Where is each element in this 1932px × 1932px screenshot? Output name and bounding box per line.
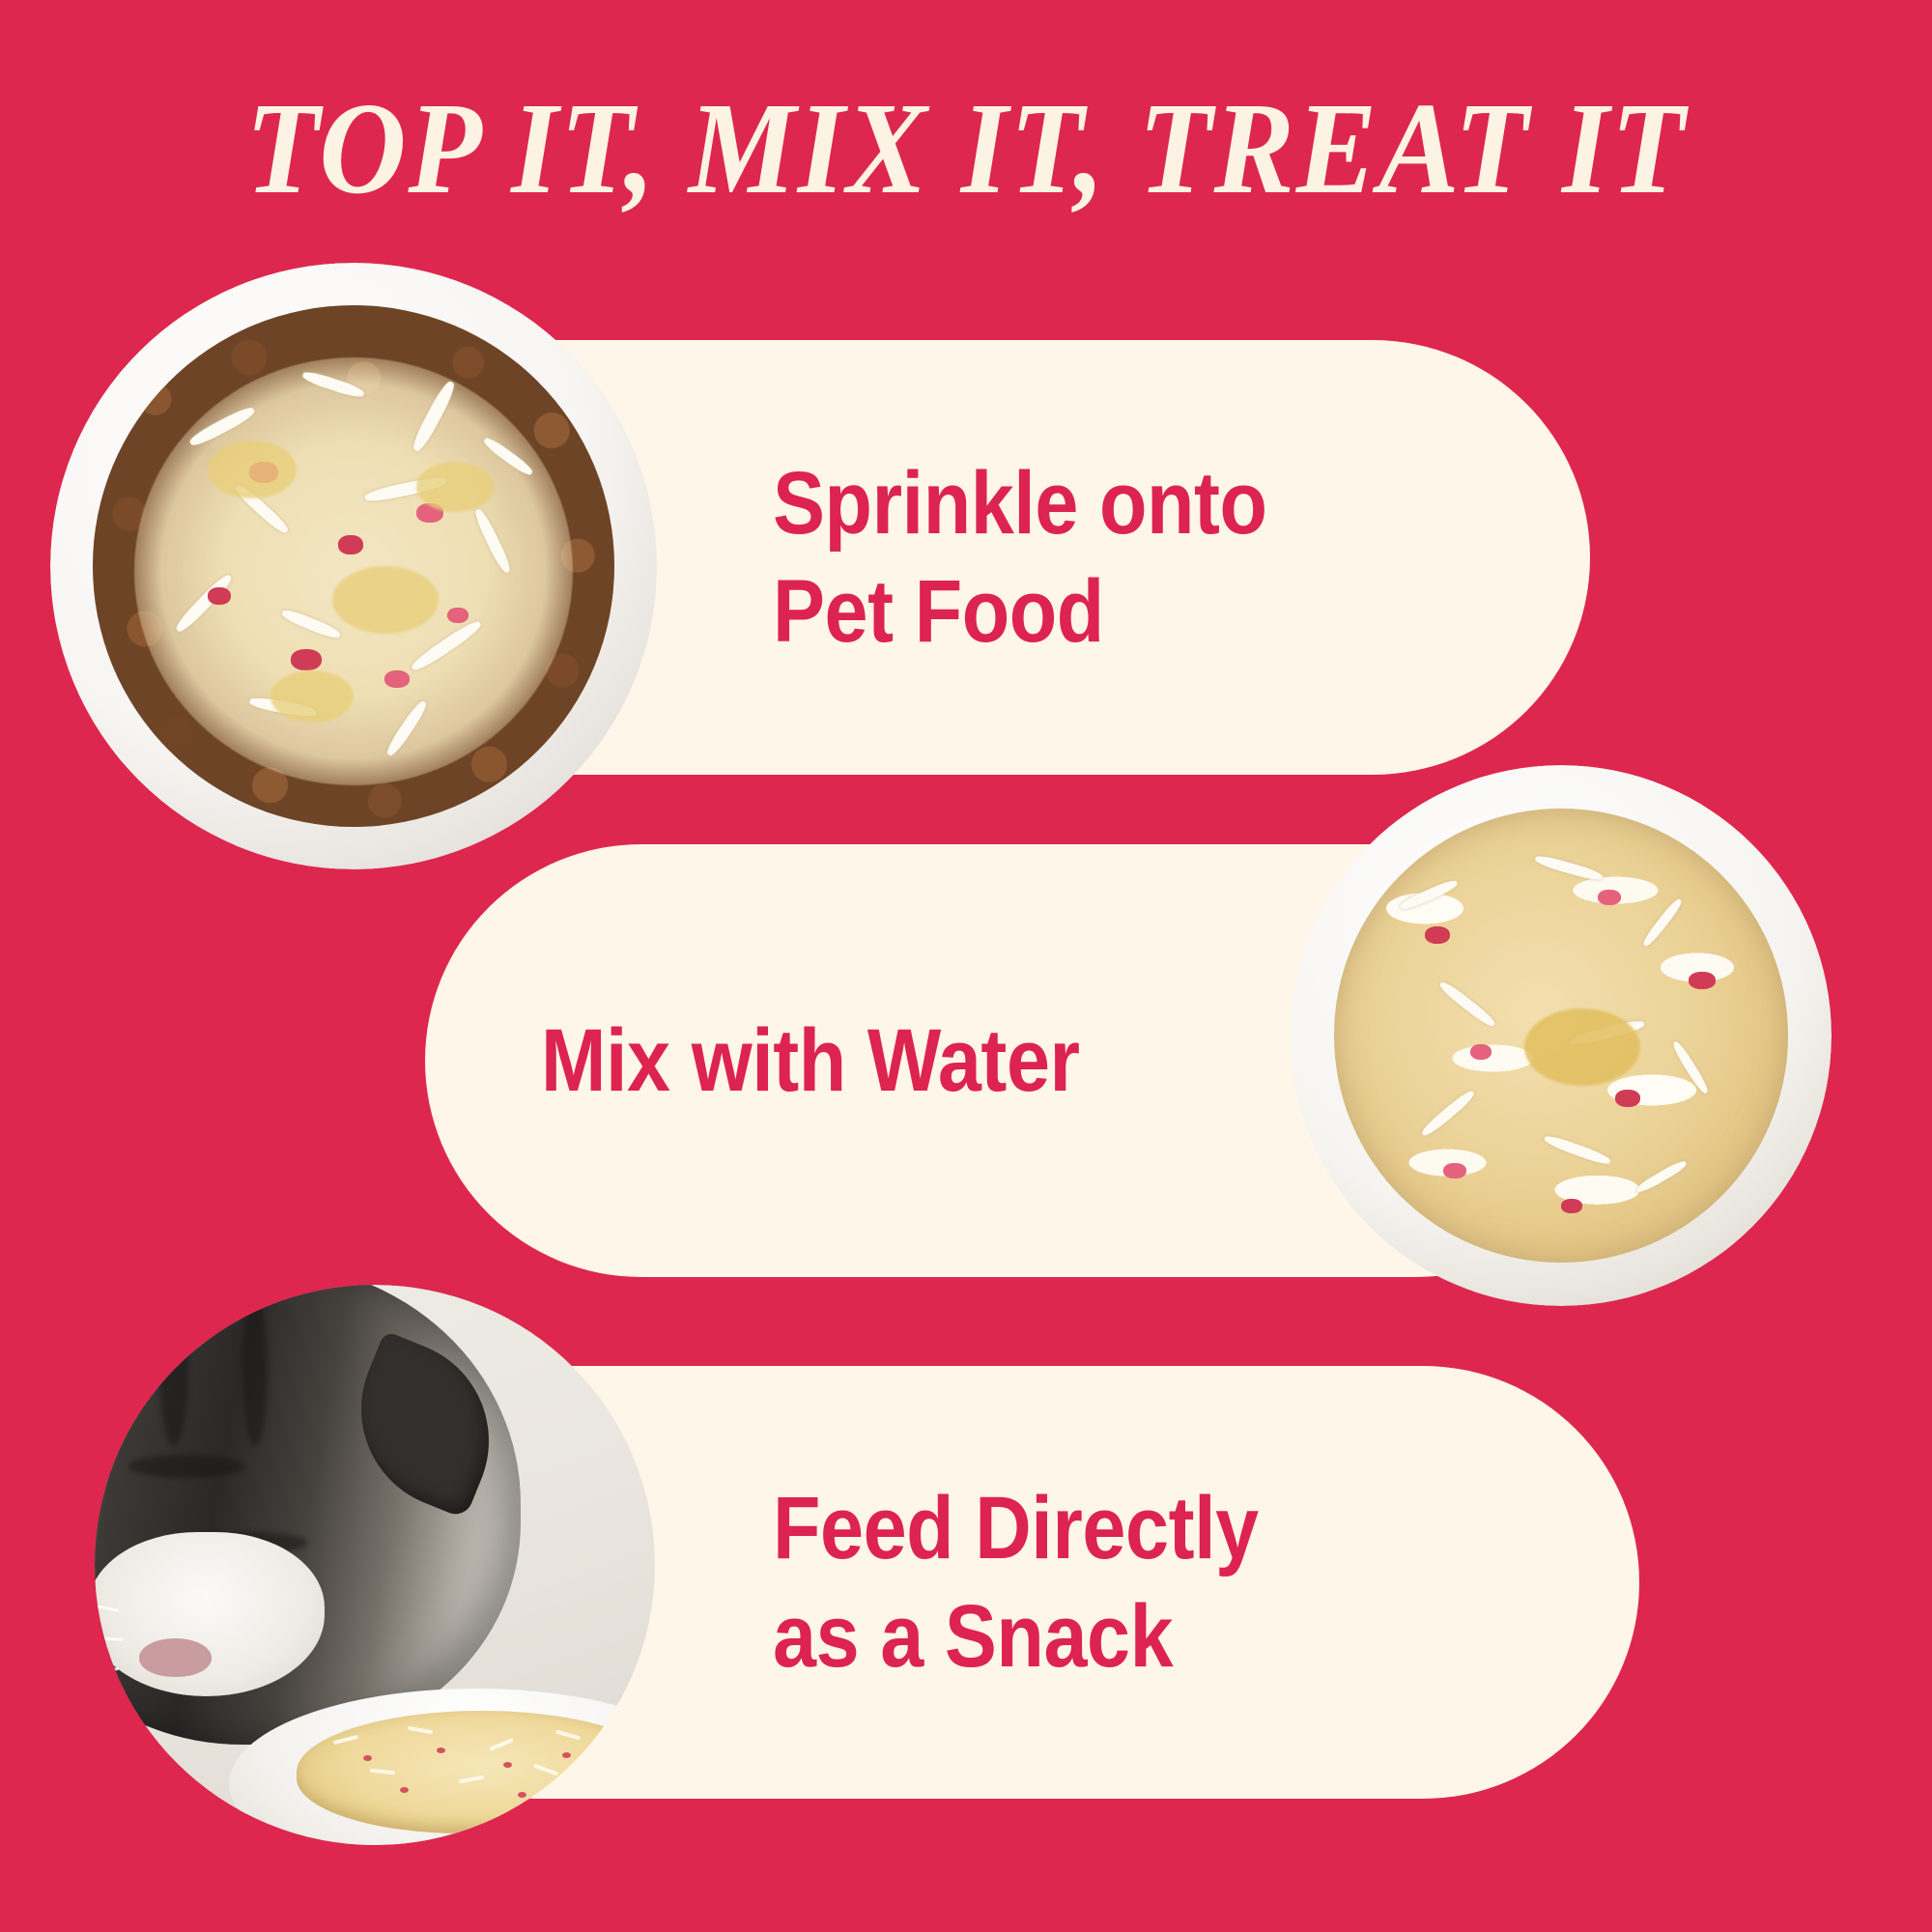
page-title: TOP IT, MIX IT, TREAT IT xyxy=(77,83,1855,214)
topper-pile xyxy=(297,1711,655,1834)
bowl-of-kibble-with-topper-photo xyxy=(50,263,657,869)
infographic-canvas: TOP IT, MIX IT, TREAT IT Sprinkle onto P… xyxy=(0,0,1932,1932)
topper-shreds xyxy=(93,305,614,827)
bowl-of-soup-with-topper-photo xyxy=(1291,765,1832,1306)
cat-nose xyxy=(139,1638,212,1677)
cat-muzzle xyxy=(95,1532,325,1696)
bowl-interior xyxy=(93,305,614,827)
soup-broth xyxy=(1334,809,1788,1263)
step-label-mix: Mix with Water xyxy=(541,1007,1080,1115)
step-label-sprinkle: Sprinkle onto Pet Food xyxy=(773,449,1267,666)
cat-eating-topper-photo xyxy=(95,1285,655,1845)
soup-topper-bits xyxy=(1334,809,1788,1263)
step-label-snack: Feed Directly as a Snack xyxy=(773,1474,1259,1690)
